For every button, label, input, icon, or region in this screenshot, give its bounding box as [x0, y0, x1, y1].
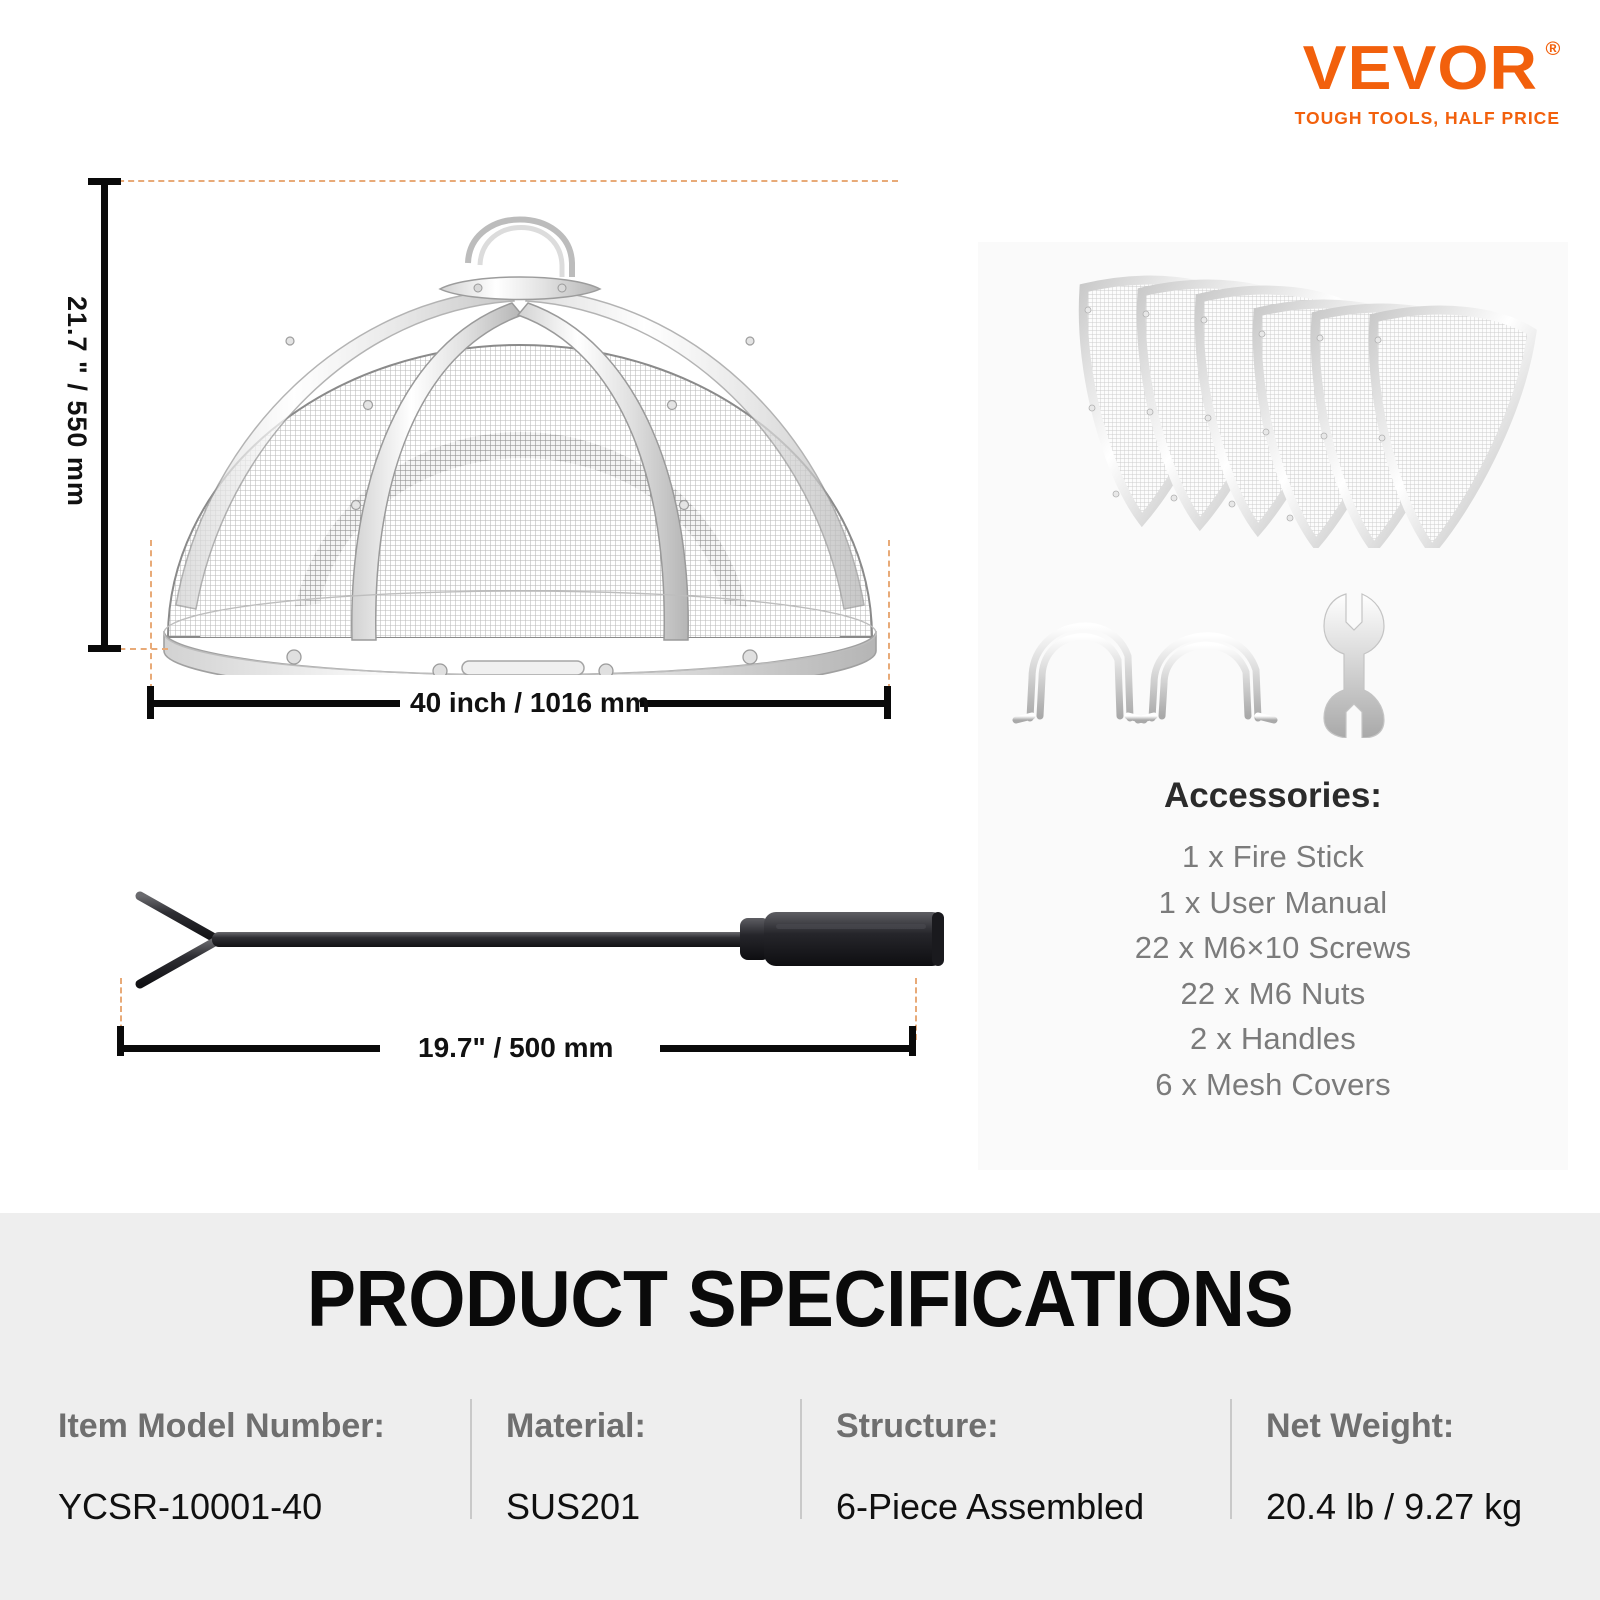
stick-length-tick-left [117, 1026, 124, 1056]
spec-cell-structure: Structure: 6-Piece Assembled [800, 1393, 1230, 1568]
accessory-item: 1 x User Manual [978, 880, 1568, 926]
dome-height-label: 21.7 " / 550 mm [61, 296, 92, 507]
dome-width-guide-right [888, 540, 890, 690]
brand-wordmark: VEVOR ® [1303, 38, 1538, 100]
spec-key: Material: [506, 1407, 800, 1446]
dome-screen-illustration [140, 185, 900, 675]
accessory-item: 1 x Fire Stick [978, 834, 1568, 880]
fire-stick-illustration [100, 868, 950, 998]
dome-height-tick-bottom [88, 645, 121, 652]
fire-stick-shaft [212, 932, 752, 947]
stick-length-tick-right [909, 1026, 916, 1056]
dome-width-axis-right [640, 700, 890, 707]
spec-cell-material: Material: SUS201 [470, 1393, 800, 1568]
brand-tagline: TOUGH TOOLS, HALF PRICE [1295, 108, 1560, 129]
spec-cell-weight: Net Weight: 20.4 lb / 9.27 kg [1230, 1393, 1600, 1568]
spec-value: YCSR-10001-40 [58, 1486, 470, 1528]
accessory-item: 22 x M6 Nuts [978, 971, 1568, 1017]
stick-length-axis-left [120, 1045, 380, 1052]
specifications-section: PRODUCT SPECIFICATIONS Item Model Number… [0, 1213, 1600, 1600]
dome-height-guide-top [98, 180, 898, 182]
specifications-row: Item Model Number: YCSR-10001-40 Materia… [0, 1393, 1600, 1568]
spec-value: SUS201 [506, 1486, 800, 1528]
spec-key: Net Weight: [1266, 1407, 1600, 1446]
handle-part [1016, 626, 1144, 720]
dome-height-axis [101, 181, 108, 649]
spec-key: Item Model Number: [58, 1407, 470, 1446]
handle-part-second [1138, 636, 1274, 720]
dome-width-tick-right [884, 686, 891, 719]
spec-value: 20.4 lb / 9.27 kg [1266, 1486, 1600, 1528]
hardware-parts-illustration [1002, 578, 1542, 738]
dome-width-guide-left [150, 540, 152, 690]
dome-width-label: 40 inch / 1016 mm [410, 687, 650, 719]
dome-side-handle [462, 661, 584, 675]
spec-cell-model: Item Model Number: YCSR-10001-40 [0, 1393, 470, 1568]
accessory-item: 22 x M6×10 Screws [978, 925, 1568, 971]
dome-top-handle [468, 220, 572, 278]
accessories-list: 1 x Fire Stick 1 x User Manual 22 x M6×1… [978, 834, 1568, 1107]
dome-width-axis-left [150, 700, 400, 707]
accessory-item: 2 x Handles [978, 1016, 1568, 1062]
product-spec-sheet: VEVOR ® TOUGH TOOLS, HALF PRICE [0, 0, 1600, 1600]
accessories-panel: Accessories: 1 x Fire Stick 1 x User Man… [978, 242, 1568, 1170]
fire-stick-handle [740, 912, 944, 966]
hex-key-icon [1472, 620, 1502, 720]
spec-key: Structure: [836, 1407, 1230, 1446]
mesh-covers-illustration [992, 258, 1562, 548]
registered-trademark-icon: ® [1546, 40, 1562, 59]
spec-value: 6-Piece Assembled [836, 1486, 1230, 1528]
accessory-item: 6 x Mesh Covers [978, 1062, 1568, 1108]
stick-length-axis-right [660, 1045, 916, 1052]
specifications-heading: PRODUCT SPECIFICATIONS [64, 1253, 1536, 1345]
accessories-heading: Accessories: [978, 776, 1568, 816]
brand-logo: VEVOR ® TOUGH TOOLS, HALF PRICE [1295, 38, 1560, 129]
fire-stick-fork [140, 896, 218, 984]
dome-height-tick-top [88, 178, 121, 185]
brand-name-text: VEVOR [1303, 34, 1538, 103]
wrench-icon [1324, 594, 1384, 738]
stick-length-label: 19.7" / 500 mm [418, 1032, 613, 1064]
dome-width-tick-left [147, 686, 154, 719]
dome-top-cap [440, 277, 600, 300]
